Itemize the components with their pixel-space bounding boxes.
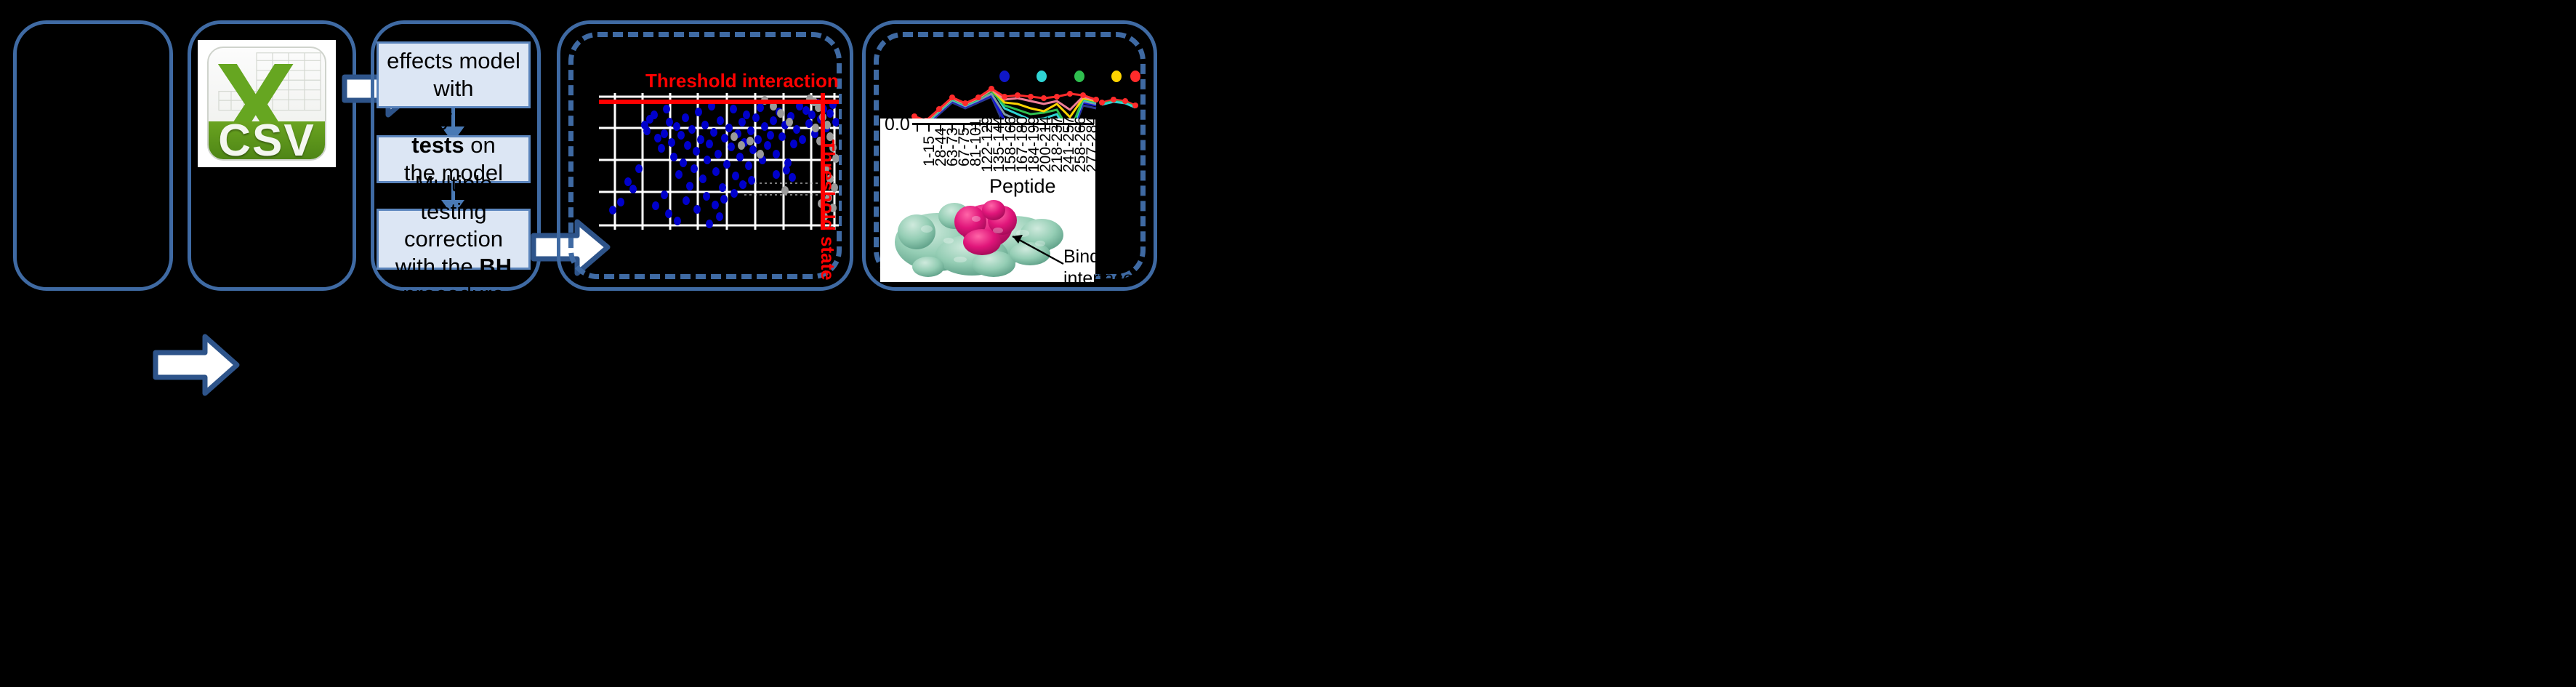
input-data-panel [13, 20, 173, 291]
flow-arrow-1 [153, 331, 240, 400]
csv-label-band: CSV [209, 121, 325, 159]
workflow-figure: X CSV Fit a linear mixed-effects model w… [0, 0, 2576, 687]
peptide-label: 277-284 [1084, 116, 1101, 172]
peptide-axis-title: Peptide [989, 175, 1056, 198]
volcano-scatter-plot [599, 93, 839, 230]
csv-file-icon-frame: X CSV [198, 40, 336, 167]
line-chart-legend [999, 71, 1140, 82]
binding-interface-label-line1: Binding [1063, 246, 1133, 268]
y-axis-tick-label: 0.0 [885, 114, 910, 135]
threshold-state-label: Threshold state [816, 140, 839, 281]
binding-interface-label: Binding interface [1063, 246, 1133, 289]
step-box-3-text: Multiple testingcorrectionwith the BH pr… [386, 170, 521, 308]
binding-interface-label-line2: interface [1063, 268, 1133, 290]
csv-file-icon[interactable]: X CSV [207, 47, 326, 161]
csv-label: CSV [218, 115, 315, 161]
step-box-1: Fit a linear mixed-effects model withREM… [377, 41, 531, 108]
threshold-interaction-label: Threshold interaction [645, 70, 839, 92]
protein-structure-image [885, 197, 1068, 278]
step-box-3: Multiple testingcorrectionwith the BH pr… [377, 209, 531, 270]
csv-x-letter: X [214, 52, 261, 105]
peptide-axis-and-structure-inset: 0.0 1-15 28-44 63-73 67-75 81-101 [880, 118, 1095, 282]
volcano-scatter-svg [599, 93, 839, 230]
